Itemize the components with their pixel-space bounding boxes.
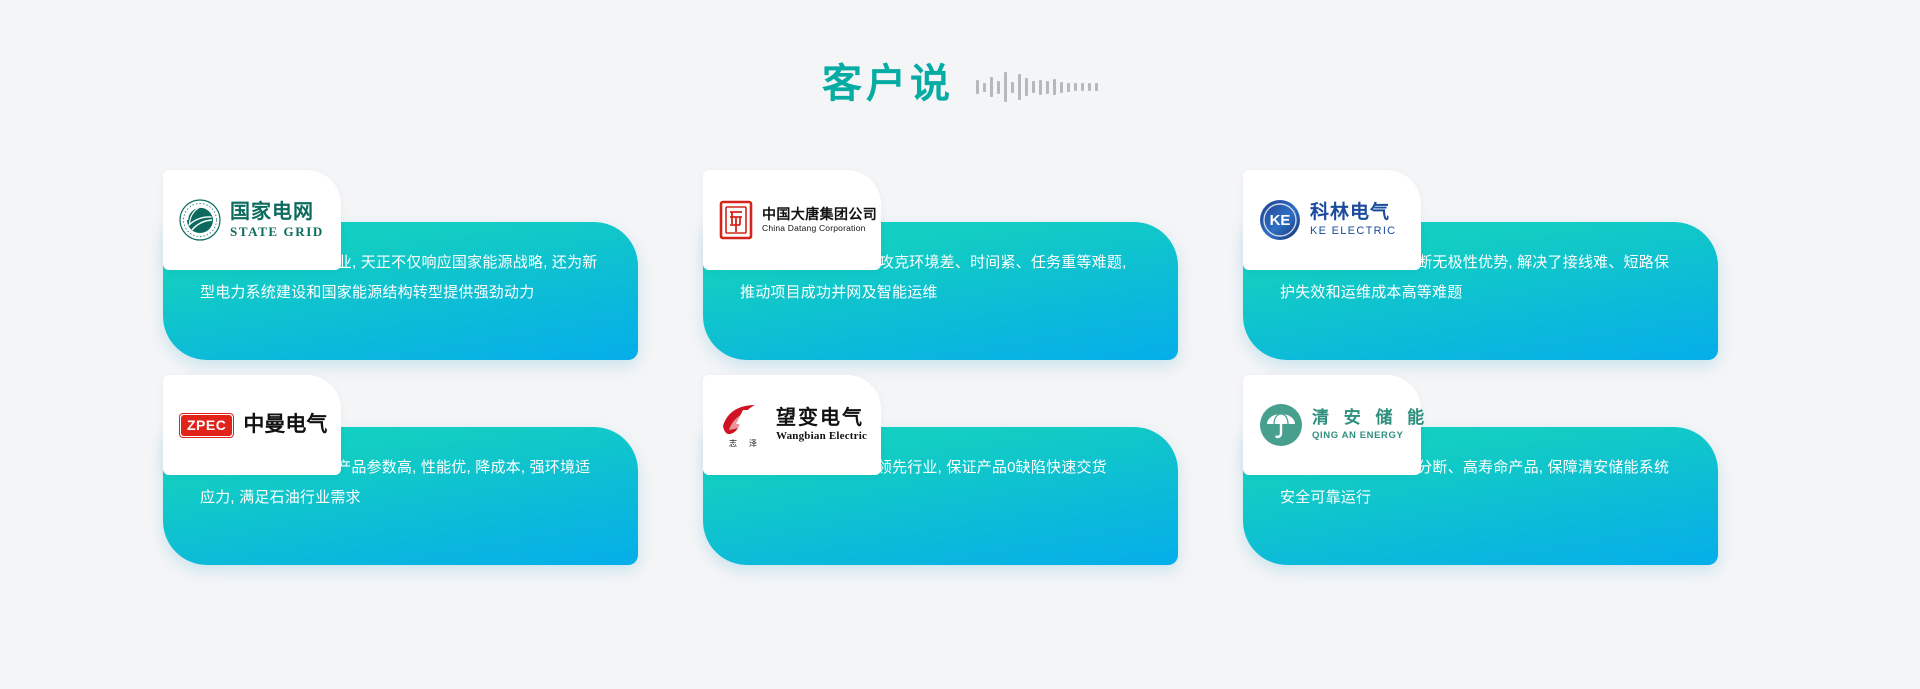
waveform-bar xyxy=(997,81,1000,94)
brand-name-block: 科林电气KE ELECTRIC xyxy=(1310,203,1396,237)
audio-waveform-icon xyxy=(976,62,1098,106)
waveform-bar xyxy=(983,83,986,92)
testimonial-card[interactable]: 清 安 储 能QING AN ENERGY天正NEXTG3系列高分断、高寿命产品… xyxy=(1243,375,1718,565)
waveform-bar xyxy=(990,77,993,97)
waveform-bar xyxy=(1018,74,1021,100)
brand-logo-badge: 志 泽 望变电气Wangbian Electric xyxy=(703,375,881,475)
page-title: 客户说 xyxy=(822,64,954,104)
ke-electric-circle-icon: KE xyxy=(1259,199,1301,241)
testimonial-card[interactable]: KE 科林电气KE ELECTRIC天正NEXTG3系列微断无极性优势, 解决了… xyxy=(1243,170,1718,360)
brand-name-block: 中曼电气 xyxy=(243,414,327,436)
brand-logo-inner: 中国大唐集团公司China Datang Corporation xyxy=(719,200,877,240)
waveform-bar xyxy=(1053,79,1056,95)
waveform-bar xyxy=(1095,83,1098,91)
brand-name-cn: 国家电网 xyxy=(230,202,324,223)
brand-name-block: 国家电网STATE GRID xyxy=(230,202,324,239)
brand-name-en: QING AN ENERGY xyxy=(1312,431,1429,441)
waveform-bar xyxy=(1004,72,1007,102)
china-datang-seal-icon xyxy=(719,200,753,240)
brand-logo-inner: ZPEC中曼电气 xyxy=(179,413,327,438)
brand-name-cn: 中国大唐集团公司 xyxy=(762,207,877,222)
waveform-bar xyxy=(1067,83,1070,92)
brand-name-en: China Datang Corporation xyxy=(762,224,877,233)
brand-name-cn: 清 安 储 能 xyxy=(1312,409,1429,427)
waveform-bar xyxy=(1025,78,1028,96)
brand-logo-badge: ZPEC中曼电气 xyxy=(163,375,341,475)
waveform-bar xyxy=(1032,81,1035,93)
waveform-bar xyxy=(1011,82,1014,93)
brand-name-cn: 中曼电气 xyxy=(243,414,327,436)
brand-name-en: STATE GRID xyxy=(230,225,324,239)
brand-name-block: 望变电气Wangbian Electric xyxy=(776,408,867,443)
brand-name-en: KE ELECTRIC xyxy=(1310,226,1396,238)
brand-name-cn: 科林电气 xyxy=(1310,203,1396,223)
brand-name-block: 清 安 储 能QING AN ENERGY xyxy=(1312,409,1429,441)
svg-text:KE: KE xyxy=(1270,212,1291,229)
waveform-bar xyxy=(976,80,979,94)
brand-name-cn: 望变电气 xyxy=(776,408,867,429)
section-header: 客户说 xyxy=(0,62,1920,106)
svg-text:泽: 泽 xyxy=(749,439,757,448)
testimonial-card[interactable]: 中国大唐集团公司China Datang Corporation6个月项目周期,… xyxy=(703,170,1178,360)
brand-logo-badge: 中国大唐集团公司China Datang Corporation xyxy=(703,170,881,270)
testimonial-card[interactable]: 志 泽 望变电气Wangbian Electric天正智造和智能仓储领先行业, … xyxy=(703,375,1178,565)
brand-logo-inner: KE 科林电气KE ELECTRIC xyxy=(1259,199,1396,241)
waveform-bar xyxy=(1088,83,1091,91)
wangbian-swoosh-icon: 志 泽 xyxy=(719,402,767,448)
waveform-bar xyxy=(1060,82,1063,93)
brand-name-block: 中国大唐集团公司China Datang Corporation xyxy=(762,207,877,234)
waveform-bar xyxy=(1074,83,1077,91)
brand-logo-badge: 清 安 储 能QING AN ENERGY xyxy=(1243,375,1421,475)
brand-logo-inner: 志 泽 望变电气Wangbian Electric xyxy=(719,402,867,448)
brand-name-en: Wangbian Electric xyxy=(776,431,867,443)
brand-logo-badge: KE 科林电气KE ELECTRIC xyxy=(1243,170,1421,270)
state-grid-globe-icon xyxy=(179,199,221,241)
svg-text:志: 志 xyxy=(729,438,737,448)
brand-logo-inner: 国家电网STATE GRID xyxy=(179,199,324,241)
waveform-bar xyxy=(1039,80,1042,95)
brand-logo-inner: 清 安 储 能QING AN ENERGY xyxy=(1259,403,1429,447)
qingan-umbrella-circle-icon xyxy=(1259,403,1303,447)
brand-logo-wordmark: ZPEC xyxy=(181,415,232,436)
waveform-bar xyxy=(1046,81,1049,94)
brand-logo-badge: 国家电网STATE GRID xyxy=(163,170,341,270)
waveform-bar xyxy=(1081,83,1084,91)
testimonial-card[interactable]: ZPEC中曼电气TG3系列行业平台型产品参数高, 性能优, 降成本, 强环境适应… xyxy=(163,375,638,565)
testimonial-card-grid: 国家电网STATE GRID作为电气行业龙头企业, 天正不仅响应国家能源战略, … xyxy=(163,170,1763,580)
testimonial-card[interactable]: 国家电网STATE GRID作为电气行业龙头企业, 天正不仅响应国家能源战略, … xyxy=(163,170,638,360)
zpec-wordmark-icon: ZPEC xyxy=(179,413,234,438)
